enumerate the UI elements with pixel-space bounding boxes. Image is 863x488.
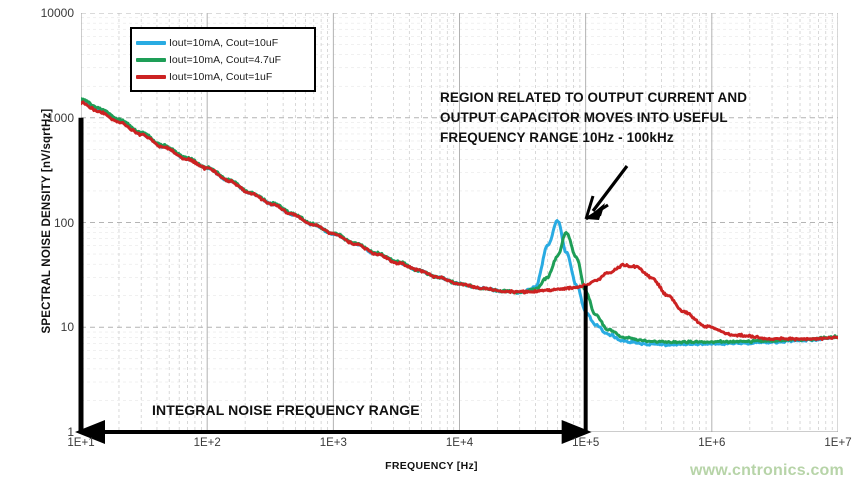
y-tick-label: 10 (28, 321, 74, 333)
legend-item: Iout=10mA, Cout=10uF (136, 34, 308, 51)
x-tick-label: 1E+4 (425, 437, 495, 449)
legend-label: Iout=10mA, Cout=10uF (169, 37, 278, 49)
x-tick-label: 1E+3 (298, 437, 368, 449)
y-tick-label: 1000 (28, 112, 74, 124)
x-tick-label: 1E+6 (677, 437, 747, 449)
y-axis-ticks: 100001000100101 (22, 0, 74, 488)
x-tick-label: 1E+1 (46, 437, 116, 449)
annotation-line-1: REGION RELATED TO OUTPUT CURRENT AND (440, 88, 840, 108)
x-axis-ticks: 1E+11E+21E+31E+41E+51E+61E+7 (0, 437, 863, 455)
legend-item: Iout=10mA, Cout=1uF (136, 68, 308, 85)
legend-item: Iout=10mA, Cout=4.7uF (136, 51, 308, 68)
chart-figure: SPECTRAL NOISE DENSITY [nV/sqrtHz] 10000… (0, 0, 863, 488)
region-annotation: REGION RELATED TO OUTPUT CURRENT AND OUT… (440, 88, 840, 148)
y-tick-label: 100 (28, 217, 74, 229)
legend-swatch-blue (136, 41, 166, 45)
x-tick-label: 1E+7 (803, 437, 863, 449)
integral-range-caption: INTEGRAL NOISE FREQUENCY RANGE (152, 402, 420, 418)
annotation-line-3: FREQUENCY RANGE 10Hz - 100kHz (440, 128, 840, 148)
annotation-line-2: OUTPUT CAPACITOR MOVES INTO USEFUL (440, 108, 840, 128)
legend-swatch-green (136, 58, 166, 62)
y-tick-label: 10000 (28, 7, 74, 19)
legend-label: Iout=10mA, Cout=4.7uF (169, 54, 281, 66)
x-tick-label: 1E+5 (551, 437, 621, 449)
legend-label: Iout=10mA, Cout=1uF (169, 71, 272, 83)
legend: Iout=10mA, Cout=10uF Iout=10mA, Cout=4.7… (130, 27, 316, 92)
watermark: www.cntronics.com (690, 462, 844, 480)
x-tick-label: 1E+2 (172, 437, 242, 449)
legend-swatch-red (136, 75, 166, 79)
